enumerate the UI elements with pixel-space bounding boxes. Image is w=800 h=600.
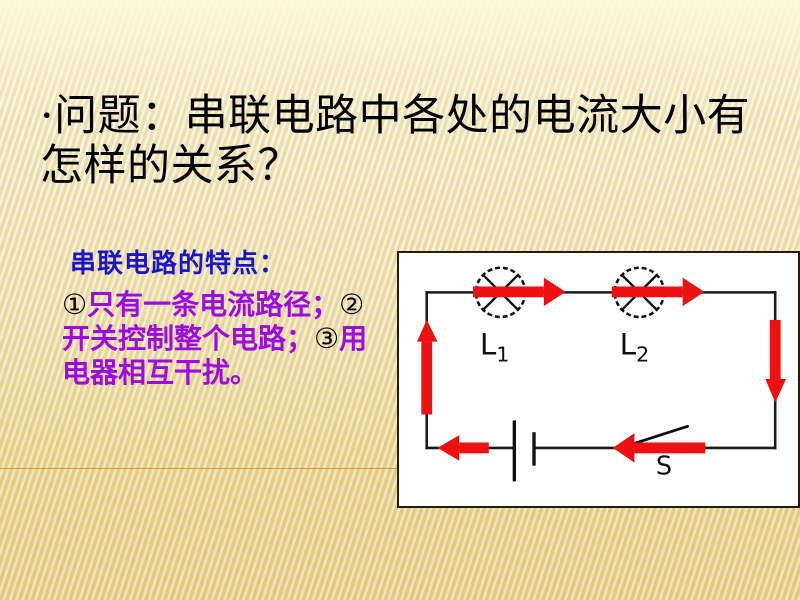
arrow-left-side-icon (417, 320, 438, 415)
slide-canvas: ·问题：串联电路中各处的电流大小有怎样的关系？ 串联电路的特点： ①只有一条电流… (0, 0, 800, 600)
switch-label: S (656, 451, 672, 481)
lamp-2-label: L2 (620, 327, 650, 366)
list-marker-2: ② (339, 288, 364, 321)
divider-line (0, 468, 397, 469)
arrow-right-side-icon (765, 320, 786, 403)
list-marker-3: ③ (314, 322, 339, 355)
list-marker-1: ① (62, 288, 87, 321)
arrow-bottom-left-icon (438, 435, 489, 461)
list-item-1-text: 只有一条电流路径； (87, 288, 339, 321)
features-heading: 串联电路的特点： (70, 243, 286, 280)
current-arrows (417, 278, 786, 463)
circuit-diagram-panel: L1 L2 S (397, 251, 800, 508)
circuit-wires (427, 292, 775, 448)
features-body: ①只有一条电流路径；②开关控制整个电路；③用电器相互干扰。 (62, 288, 387, 390)
lamp-1-label: L1 (480, 327, 510, 366)
list-item-2-text: 开关控制整个电路； (62, 322, 314, 355)
battery-symbol (514, 420, 534, 481)
page-title: ·问题：串联电路中各处的电流大小有怎样的关系？ (40, 92, 780, 192)
